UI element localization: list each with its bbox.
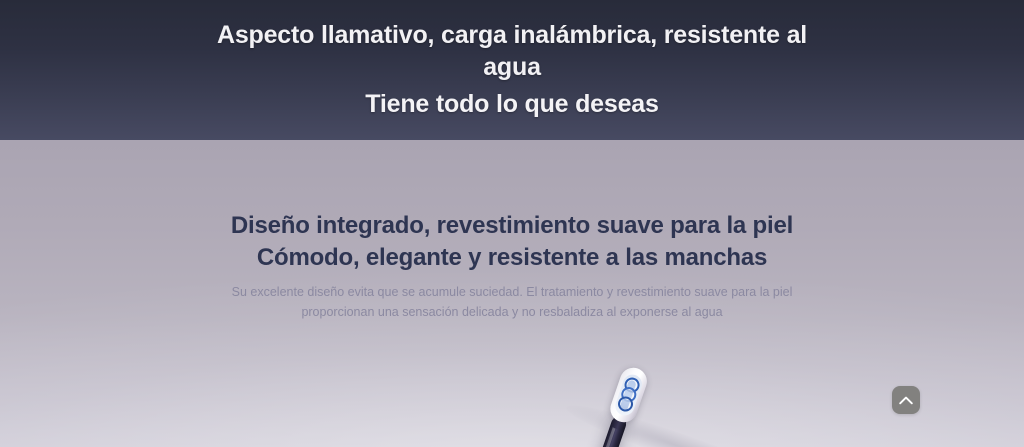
toothbrush-graphic xyxy=(529,360,670,447)
section-description-line-2: proporcionan una sensación delicada y no… xyxy=(0,302,1024,322)
toothbrush-neck xyxy=(611,408,630,431)
chevron-up-icon xyxy=(899,396,913,405)
bristle-ring-top xyxy=(622,375,641,394)
bristle-ring-bottom xyxy=(616,394,635,413)
section-heading-line-2: Cómodo, elegante y resistente a las manc… xyxy=(0,242,1024,274)
toothbrush-handle xyxy=(545,415,628,447)
hero-subtitle: Tiene todo lo que deseas xyxy=(162,88,862,120)
bristle-ring-middle xyxy=(619,385,638,404)
scroll-to-top-button[interactable] xyxy=(892,386,920,414)
toothbrush-head xyxy=(607,364,651,426)
hero-title: Aspecto llamativo, carga inalámbrica, re… xyxy=(212,19,812,83)
section-heading-line-1: Diseño integrado, revestimiento suave pa… xyxy=(231,212,793,239)
toothbrush-bristles xyxy=(613,372,645,418)
section-description-line-1: Su excelente diseño evita que se acumule… xyxy=(232,285,793,299)
product-drop-shadow xyxy=(562,395,788,447)
section-heading: Diseño integrado, revestimiento suave pa… xyxy=(0,210,1024,274)
product-landing-page: Aspecto llamativo, carga inalámbrica, re… xyxy=(0,0,1024,447)
section-description: Su excelente diseño evita que se acumule… xyxy=(0,282,1024,323)
hero-banner: Aspecto llamativo, carga inalámbrica, re… xyxy=(0,0,1024,140)
bristle-center-bar xyxy=(619,379,637,412)
product-feature-section: Diseño integrado, revestimiento suave pa… xyxy=(0,140,1024,447)
